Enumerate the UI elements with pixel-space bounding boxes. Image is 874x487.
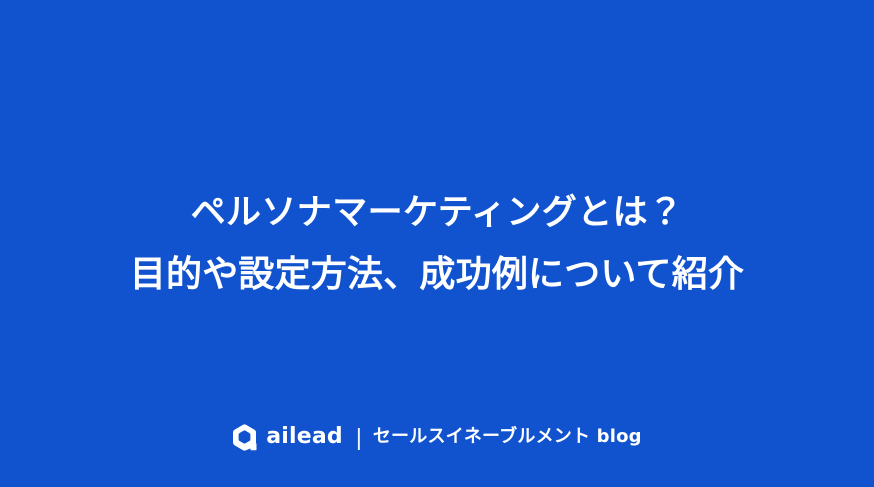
article-title-banner: ペルソナマーケティングとは？ 目的や設定方法、成功例について紹介 ailead … [0,0,874,487]
brand-wordmark: ailead [266,426,343,448]
page-title: ペルソナマーケティングとは？ 目的や設定方法、成功例について紹介 [0,182,874,306]
brand-tagline: セールスイネーブルメント blog [373,428,642,446]
page-title-line-2: 目的や設定方法、成功例について紹介 [0,244,874,306]
ailead-hexagon-logo-icon [232,424,257,451]
brand-divider: | [356,426,362,449]
page-title-line-1: ペルソナマーケティングとは？ [0,182,874,244]
brand-lockup: ailead | セールスイネーブルメント blog [0,420,874,454]
